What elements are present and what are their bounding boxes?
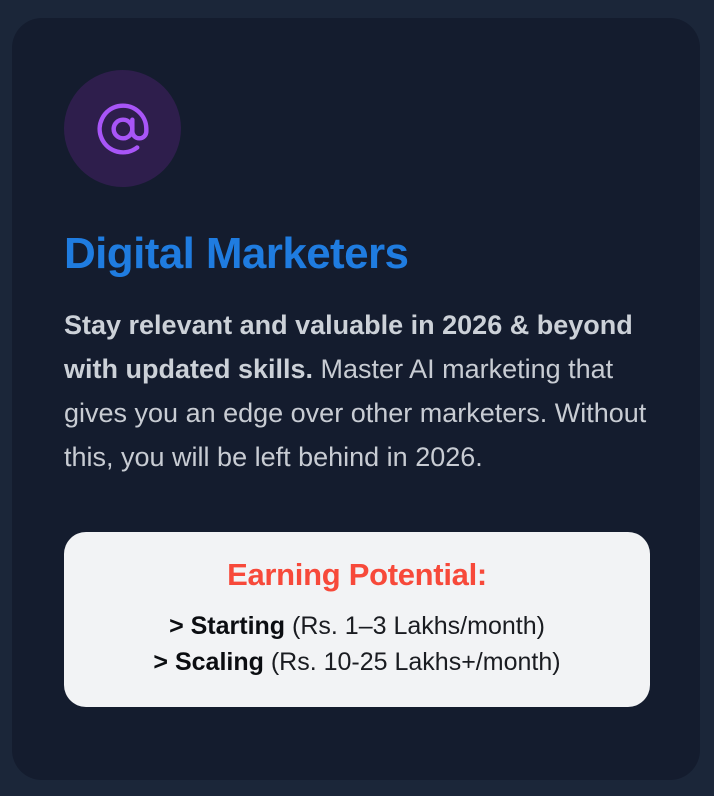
at-sign-icon-badge [64, 70, 181, 187]
earning-tier-label: Starting [191, 612, 285, 640]
persona-card-page: Digital Marketers Stay relevant and valu… [0, 0, 714, 796]
earning-potential-title: Earning Potential: [82, 558, 632, 592]
earning-potential-panel: Earning Potential: > Starting (Rs. 1–3 L… [64, 532, 650, 707]
earning-amount-value: (Rs. 10-25 Lakhs+/month) [271, 648, 561, 676]
earning-amount-value: (Rs. 1–3 Lakhs/month) [292, 612, 545, 640]
at-sign-icon [95, 101, 151, 157]
earning-tier-label: Scaling [175, 648, 264, 676]
earning-row-starting: > Starting (Rs. 1–3 Lakhs/month) [82, 608, 632, 644]
page-title: Digital Marketers [64, 231, 650, 277]
card-description: Stay relevant and valuable in 2026 & bey… [64, 303, 650, 479]
earning-row-scaling: > Scaling (Rs. 10-25 Lakhs+/month) [82, 644, 632, 680]
bullet-marker-icon: > [169, 612, 184, 640]
bullet-marker-icon: > [153, 648, 168, 676]
